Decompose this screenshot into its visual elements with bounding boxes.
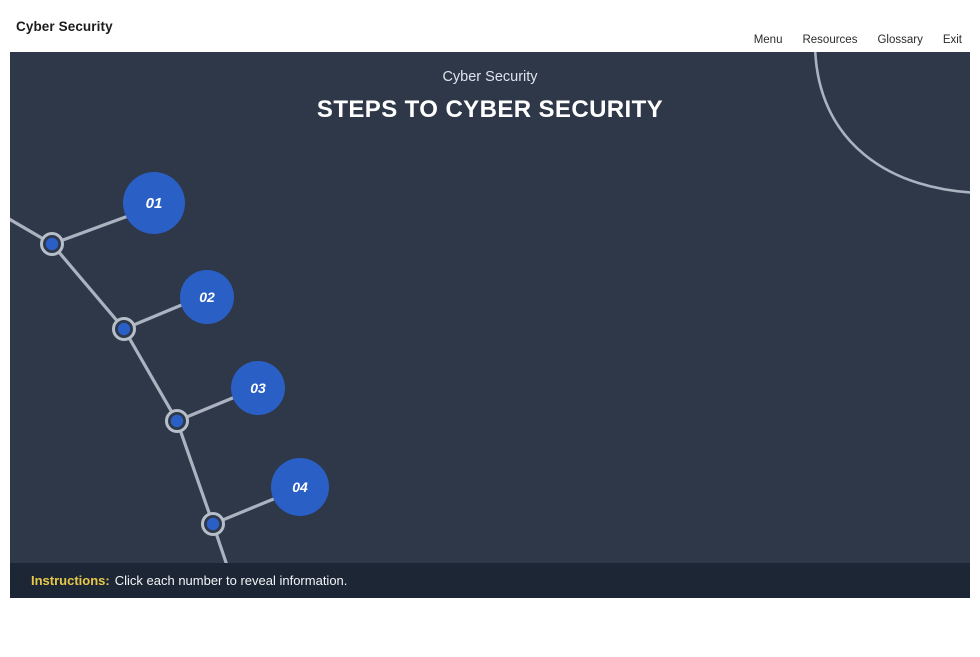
diagram-spine-path [10,202,238,598]
instructions-bar: Instructions: Click each number to revea… [10,563,970,598]
node-dot-01[interactable] [46,238,58,250]
slide-stage: Cyber Security STEPS TO CYBER SECURITY 0… [10,52,970,598]
step-bubble-03[interactable]: 03 [231,361,285,415]
step-bubble-label-03: 03 [250,380,266,396]
step-bubble-01[interactable]: 01 [123,172,185,234]
step-bubble-label-04: 04 [292,479,308,495]
nav-menu[interactable]: Menu [754,35,783,47]
step-bubble-label-01: 01 [146,195,163,212]
course-player: Cyber Security Menu Resources Glossary E… [0,0,980,657]
steps-diagram [10,52,970,598]
node-dot-03[interactable] [171,415,183,427]
top-bar: Cyber Security Menu Resources Glossary E… [0,0,980,52]
nav-resources[interactable]: Resources [802,35,857,47]
player-bar: PREV NEXT [0,598,980,657]
step-bubble-02[interactable]: 02 [180,270,234,324]
instructions-label: Instructions: [31,573,110,588]
step-bubble-04[interactable]: 04 [271,458,329,516]
nav-glossary[interactable]: Glossary [877,35,922,47]
nav-exit[interactable]: Exit [943,35,962,47]
node-dot-02[interactable] [118,323,130,335]
step-bubble-label-02: 02 [199,289,215,305]
branch-line-01 [52,215,131,244]
top-navigation: Menu Resources Glossary Exit [754,35,962,47]
course-title: Cyber Security [16,19,113,34]
instructions-text: Click each number to reveal information. [115,573,348,588]
node-dot-04[interactable] [207,518,219,530]
